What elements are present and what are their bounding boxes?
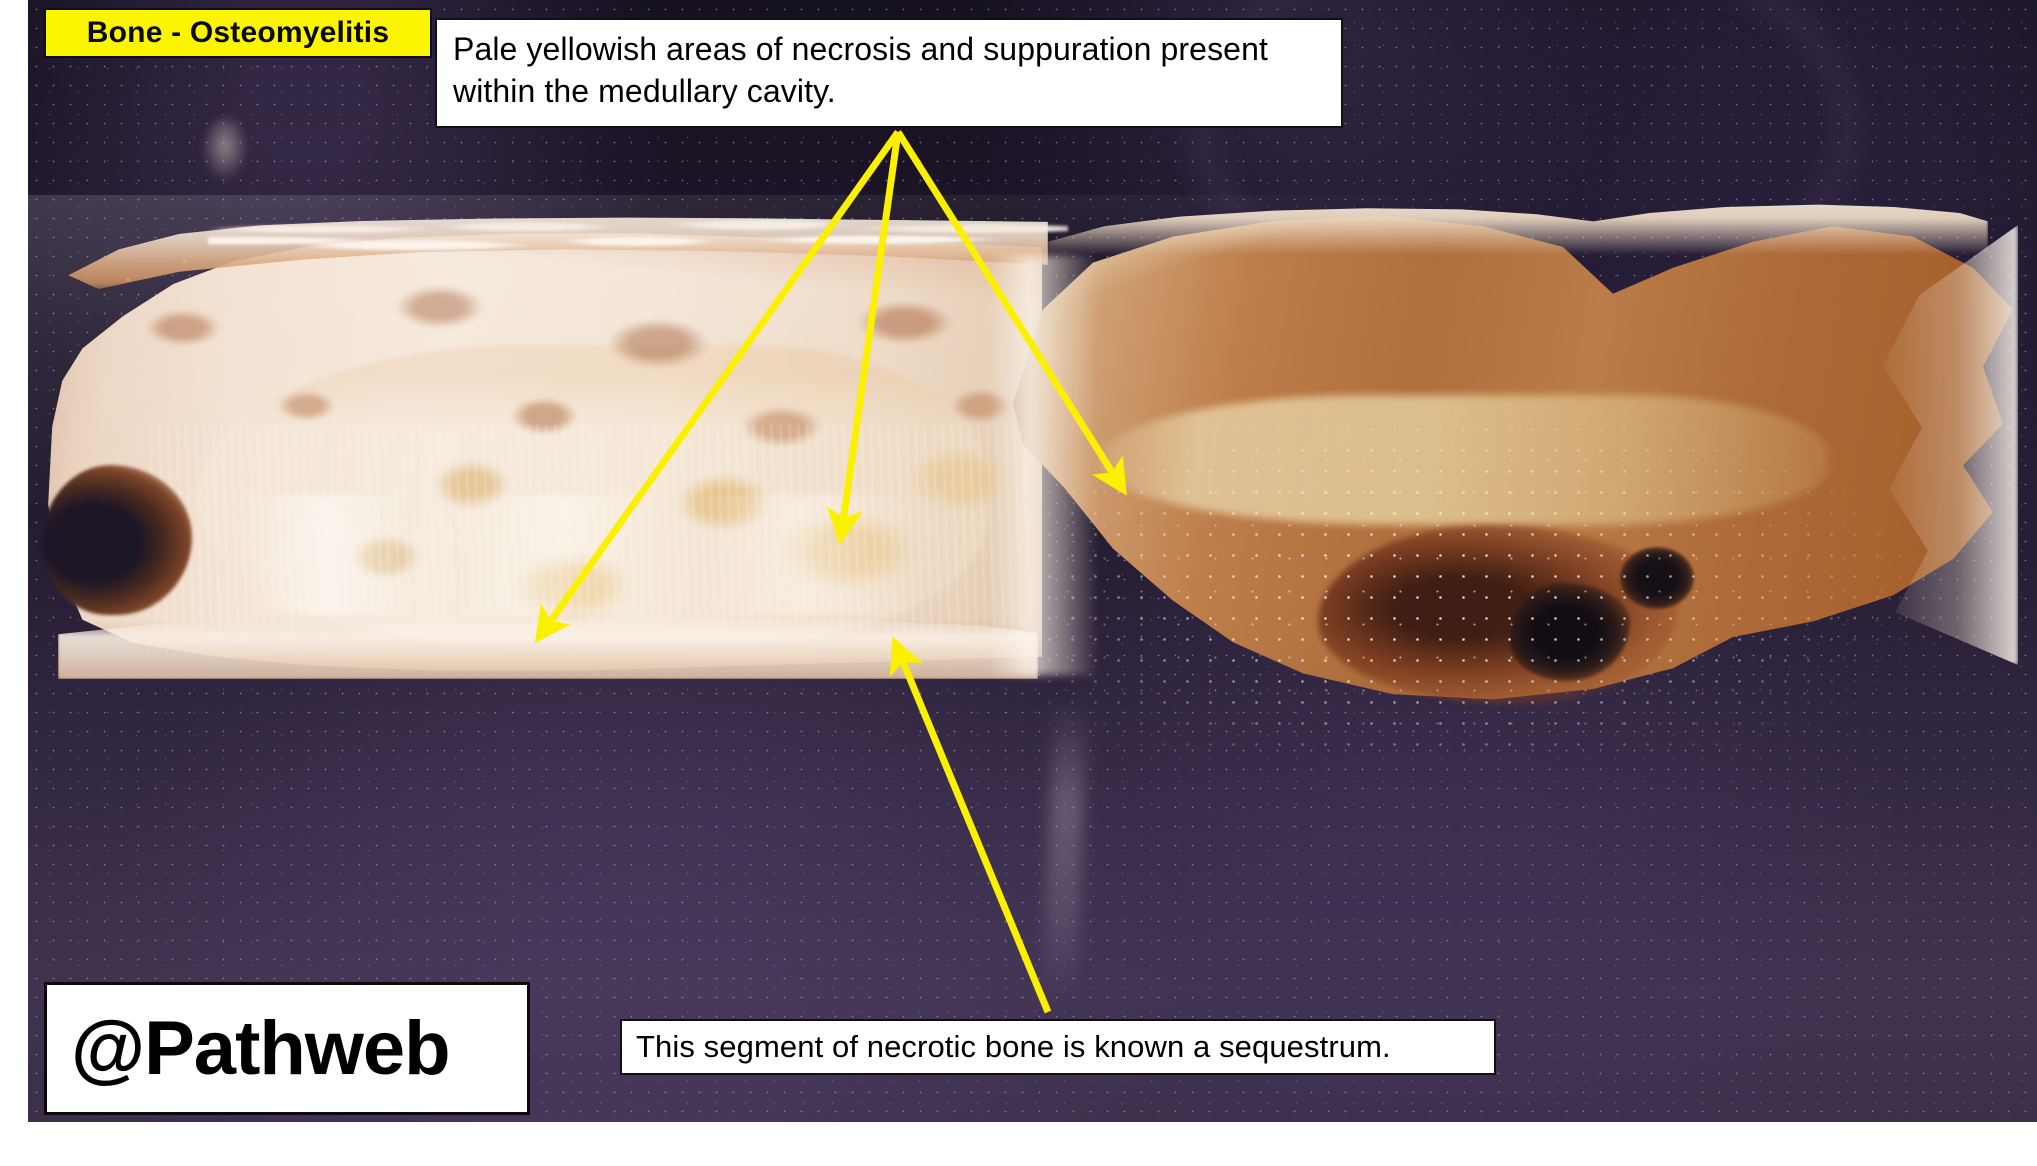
watermark-badge: @Pathweb: [44, 982, 530, 1115]
callout-necrosis-text: Pale yellowish areas of necrosis and sup…: [453, 29, 1325, 112]
title-chip-label: Bone - Osteomyelitis: [87, 16, 389, 50]
left-cut-end-notch: [42, 465, 192, 615]
watermark-label: @Pathweb: [71, 1011, 450, 1087]
bone-specimen: [28, 195, 2008, 715]
callout-sequestrum: This segment of necrotic bone is known a…: [620, 1019, 1496, 1075]
slide-canvas: Pale yellowish areas of necrosis and sup…: [0, 0, 2037, 1166]
metaphyseal-periosteal-crest: [1048, 195, 1988, 255]
shaft-metaphysis-junction: [988, 255, 1098, 675]
gross-specimen-photograph: [28, 0, 2037, 1122]
inferior-cortical-margin: [58, 615, 1038, 679]
callout-necrosis: Pale yellowish areas of necrosis and sup…: [435, 18, 1343, 128]
glistening-speckles: [1038, 335, 1978, 755]
periosteal-crust: [208, 213, 1068, 259]
callout-sequestrum-text: This segment of necrotic bone is known a…: [636, 1031, 1391, 1064]
title-chip: Bone - Osteomyelitis: [44, 8, 432, 58]
sclerotic-streaks: [238, 495, 998, 615]
background-highlight-blob: [203, 118, 247, 180]
